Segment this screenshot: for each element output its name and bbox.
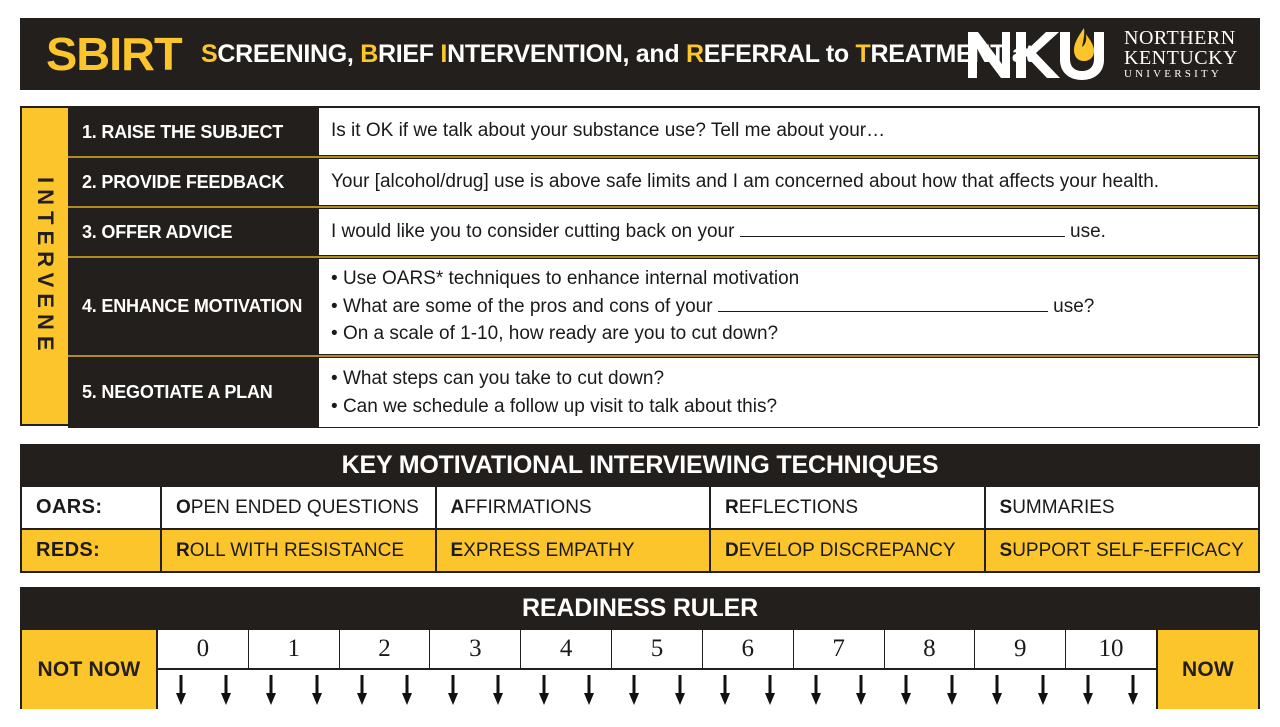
- ruler-number-2[interactable]: 2: [340, 630, 431, 668]
- title-part-7: EFERRAL to: [704, 40, 856, 68]
- ruler-number-row: 012345678910: [158, 630, 1156, 668]
- step-2-line-1: Your [alcohol/drug] use is above safe li…: [331, 169, 1246, 196]
- intervene-vertical-tab: INTERVENE: [22, 108, 68, 424]
- oars-initial-3: S: [1000, 497, 1013, 519]
- reds-initial-1: E: [451, 540, 464, 562]
- step-1-label: 1. RAISE THE SUBJECT: [68, 108, 316, 156]
- nku-line2: KENTUCKY: [1124, 48, 1238, 68]
- step-4-bullet-2-pre: What are some of the pros and cons of yo…: [343, 296, 718, 317]
- nku-wordmark-icon: [964, 26, 1114, 82]
- step-4-bullet-2: • What are some of the pros and cons of …: [331, 293, 1246, 320]
- table-row: OARS: OPEN ENDED QUESTIONS AFFIRMATIONS …: [22, 485, 1258, 528]
- down-arrow-icon: [1128, 675, 1138, 705]
- ruler-number-1[interactable]: 1: [249, 630, 340, 668]
- oars-rest-1: FFIRMATIONS: [464, 497, 591, 519]
- down-arrow-icon: [765, 675, 775, 705]
- ruler-number-10[interactable]: 10: [1066, 630, 1156, 668]
- title-part-1: CREENING,: [217, 40, 360, 68]
- step-4-bullet-2-post: use?: [1048, 296, 1094, 317]
- oars-initial-0: O: [176, 497, 191, 519]
- down-arrow-icon: [1083, 675, 1093, 705]
- ruler-scale: 012345678910: [156, 630, 1158, 709]
- step-1-line-1: Is it OK if we talk about your substance…: [331, 118, 1246, 145]
- intervene-step-row: 2. PROVIDE FEEDBACK Your [alcohol/drug] …: [68, 156, 1258, 206]
- ruler-arrow-row: [158, 668, 1156, 709]
- ruler-number-9[interactable]: 9: [975, 630, 1066, 668]
- oars-cell-3: SUMMARIES: [984, 487, 1259, 528]
- ruler-number-8[interactable]: 8: [885, 630, 976, 668]
- step-3-body: I would like you to consider cutting bac…: [316, 208, 1258, 256]
- reds-rest-2: EVELOP DISCREPANCY: [739, 540, 956, 562]
- fill-in-blank[interactable]: [718, 311, 1048, 312]
- oars-cell-2: REFLECTIONS: [709, 487, 984, 528]
- down-arrow-icon: [720, 675, 730, 705]
- reds-initial-2: D: [725, 540, 739, 562]
- reds-cell-3: SUPPORT SELF-EFFICACY: [984, 530, 1259, 571]
- ruler-number-6[interactable]: 6: [703, 630, 794, 668]
- step-5-bullet-2: • Can we schedule a follow up visit to t…: [331, 393, 1246, 420]
- table-row: REDS: ROLL WITH RESISTANCE EXPRESS EMPAT…: [22, 528, 1258, 571]
- ruler-heading: READINESS RULER: [22, 589, 1258, 628]
- mi-section-heading: KEY MOTIVATIONAL INTERVIEWING TECHNIQUES: [22, 446, 1258, 485]
- down-arrow-icon: [176, 675, 186, 705]
- oars-cell-0: OPEN ENDED QUESTIONS: [160, 487, 435, 528]
- down-arrow-icon: [1038, 675, 1048, 705]
- step-2-label: 2. PROVIDE FEEDBACK: [68, 158, 316, 206]
- step-4-bullet-1-text: Use OARS* techniques to enhance internal…: [343, 268, 799, 289]
- step-1-body: Is it OK if we talk about your substance…: [316, 108, 1258, 156]
- nku-line3: UNIVERSITY: [1124, 69, 1238, 80]
- step-5-bullet-2-text: Can we schedule a follow up visit to tal…: [343, 396, 777, 417]
- ruler-now-label: NOW: [1158, 630, 1258, 709]
- ruler-number-5[interactable]: 5: [612, 630, 703, 668]
- down-arrow-icon: [992, 675, 1002, 705]
- reds-rest-1: XPRESS EMPATHY: [463, 540, 634, 562]
- step-4-bullet-3-text: On a scale of 1-10, how ready are you to…: [343, 323, 778, 344]
- down-arrow-icon: [402, 675, 412, 705]
- fill-in-blank[interactable]: [740, 236, 1065, 237]
- title-part-2: B: [360, 40, 378, 68]
- step-5-body: • What steps can you take to cut down? •…: [316, 357, 1258, 428]
- down-arrow-icon: [448, 675, 458, 705]
- intervene-step-row: 1. RAISE THE SUBJECT Is it OK if we talk…: [68, 108, 1258, 156]
- readiness-ruler-section: READINESS RULER NOT NOW 012345678910 NOW: [20, 587, 1260, 709]
- sbirt-pocket-card: SBIRT SCREENING, BRIEF INTERVENTION, and…: [0, 0, 1280, 727]
- step-3-text-post: use.: [1065, 221, 1106, 242]
- oars-initial-2: R: [725, 497, 739, 519]
- title-part-3: RIEF: [378, 40, 440, 68]
- down-arrow-icon: [493, 675, 503, 705]
- down-arrow-icon: [584, 675, 594, 705]
- flame-icon: [1074, 28, 1094, 61]
- page-header: SBIRT SCREENING, BRIEF INTERVENTION, and…: [20, 18, 1260, 90]
- reds-cell-1: EXPRESS EMPATHY: [435, 530, 710, 571]
- step-4-label: 4. ENHANCE MOTIVATION: [68, 258, 316, 355]
- down-arrow-icon: [221, 675, 231, 705]
- down-arrow-icon: [312, 675, 322, 705]
- reds-rest-3: UPPORT SELF-EFFICACY: [1012, 540, 1244, 562]
- step-5-label: 5. NEGOTIATE A PLAN: [68, 357, 316, 428]
- intervene-step-row: 4. ENHANCE MOTIVATION • Use OARS* techni…: [68, 256, 1258, 355]
- step-2-body: Your [alcohol/drug] use is above safe li…: [316, 158, 1258, 206]
- mi-techniques-section: KEY MOTIVATIONAL INTERVIEWING TECHNIQUES…: [20, 444, 1260, 573]
- intervene-step-row: 3. OFFER ADVICE I would like you to cons…: [68, 206, 1258, 256]
- step-4-body: • Use OARS* techniques to enhance intern…: [316, 258, 1258, 355]
- title-part-0: S: [201, 40, 217, 68]
- ruler-number-4[interactable]: 4: [521, 630, 612, 668]
- step-4-bullet-1: • Use OARS* techniques to enhance intern…: [331, 265, 1246, 292]
- step-3-line-1: I would like you to consider cutting bac…: [331, 219, 1246, 246]
- ruler-number-3[interactable]: 3: [430, 630, 521, 668]
- oars-initial-1: A: [451, 497, 465, 519]
- intervene-section: INTERVENE 1. RAISE THE SUBJECT Is it OK …: [20, 106, 1260, 426]
- oars-rest-3: UMMARIES: [1012, 497, 1114, 519]
- title-part-8: T: [856, 40, 871, 68]
- reds-initial-3: S: [1000, 540, 1013, 562]
- oars-rest-2: EFLECTIONS: [739, 497, 858, 519]
- intervene-rows: 1. RAISE THE SUBJECT Is it OK if we talk…: [68, 108, 1258, 424]
- oars-cell-1: AFFIRMATIONS: [435, 487, 710, 528]
- brand-sbirt: SBIRT: [46, 31, 182, 77]
- down-arrow-icon: [811, 675, 821, 705]
- intervene-tab-label: INTERVENE: [34, 177, 56, 357]
- down-arrow-icon: [357, 675, 367, 705]
- down-arrow-icon: [856, 675, 866, 705]
- mi-table: OARS: OPEN ENDED QUESTIONS AFFIRMATIONS …: [22, 485, 1258, 571]
- step-4-bullet-3: • On a scale of 1-10, how ready are you …: [331, 320, 1246, 347]
- ruler-body: NOT NOW 012345678910 NOW: [22, 628, 1258, 709]
- oars-key-label: OARS:: [22, 487, 160, 528]
- reds-rest-0: OLL WITH RESISTANCE: [190, 540, 404, 562]
- step-5-bullet-1: • What steps can you take to cut down?: [331, 365, 1246, 392]
- ruler-number-0[interactable]: 0: [158, 630, 249, 668]
- step-3-text-pre: I would like you to consider cutting bac…: [331, 221, 740, 242]
- ruler-number-7[interactable]: 7: [794, 630, 885, 668]
- down-arrow-icon: [947, 675, 957, 705]
- intervene-step-row: 5. NEGOTIATE A PLAN • What steps can you…: [68, 355, 1258, 428]
- down-arrow-icon: [266, 675, 276, 705]
- down-arrow-icon: [539, 675, 549, 705]
- title-part-6: R: [686, 40, 704, 68]
- nku-logo: NORTHERN KENTUCKY UNIVERSITY: [964, 26, 1238, 82]
- ruler-not-now-label: NOT NOW: [22, 630, 156, 709]
- down-arrow-icon: [629, 675, 639, 705]
- nku-wordmark-lines: NORTHERN KENTUCKY UNIVERSITY: [1124, 28, 1238, 80]
- page-title: SCREENING, BRIEF INTERVENTION, and REFER…: [201, 42, 1033, 67]
- step-5-bullet-1-text: What steps can you take to cut down?: [343, 368, 664, 389]
- step-3-label: 3. OFFER ADVICE: [68, 208, 316, 256]
- title-part-5: NTERVENTION, and: [447, 40, 686, 68]
- down-arrow-icon: [901, 675, 911, 705]
- reds-key-label: REDS:: [22, 530, 160, 571]
- nku-line1: NORTHERN: [1124, 28, 1238, 48]
- down-arrow-icon: [675, 675, 685, 705]
- oars-rest-0: PEN ENDED QUESTIONS: [191, 497, 419, 519]
- reds-cell-2: DEVELOP DISCREPANCY: [709, 530, 984, 571]
- reds-cell-0: ROLL WITH RESISTANCE: [160, 530, 435, 571]
- reds-initial-0: R: [176, 540, 190, 562]
